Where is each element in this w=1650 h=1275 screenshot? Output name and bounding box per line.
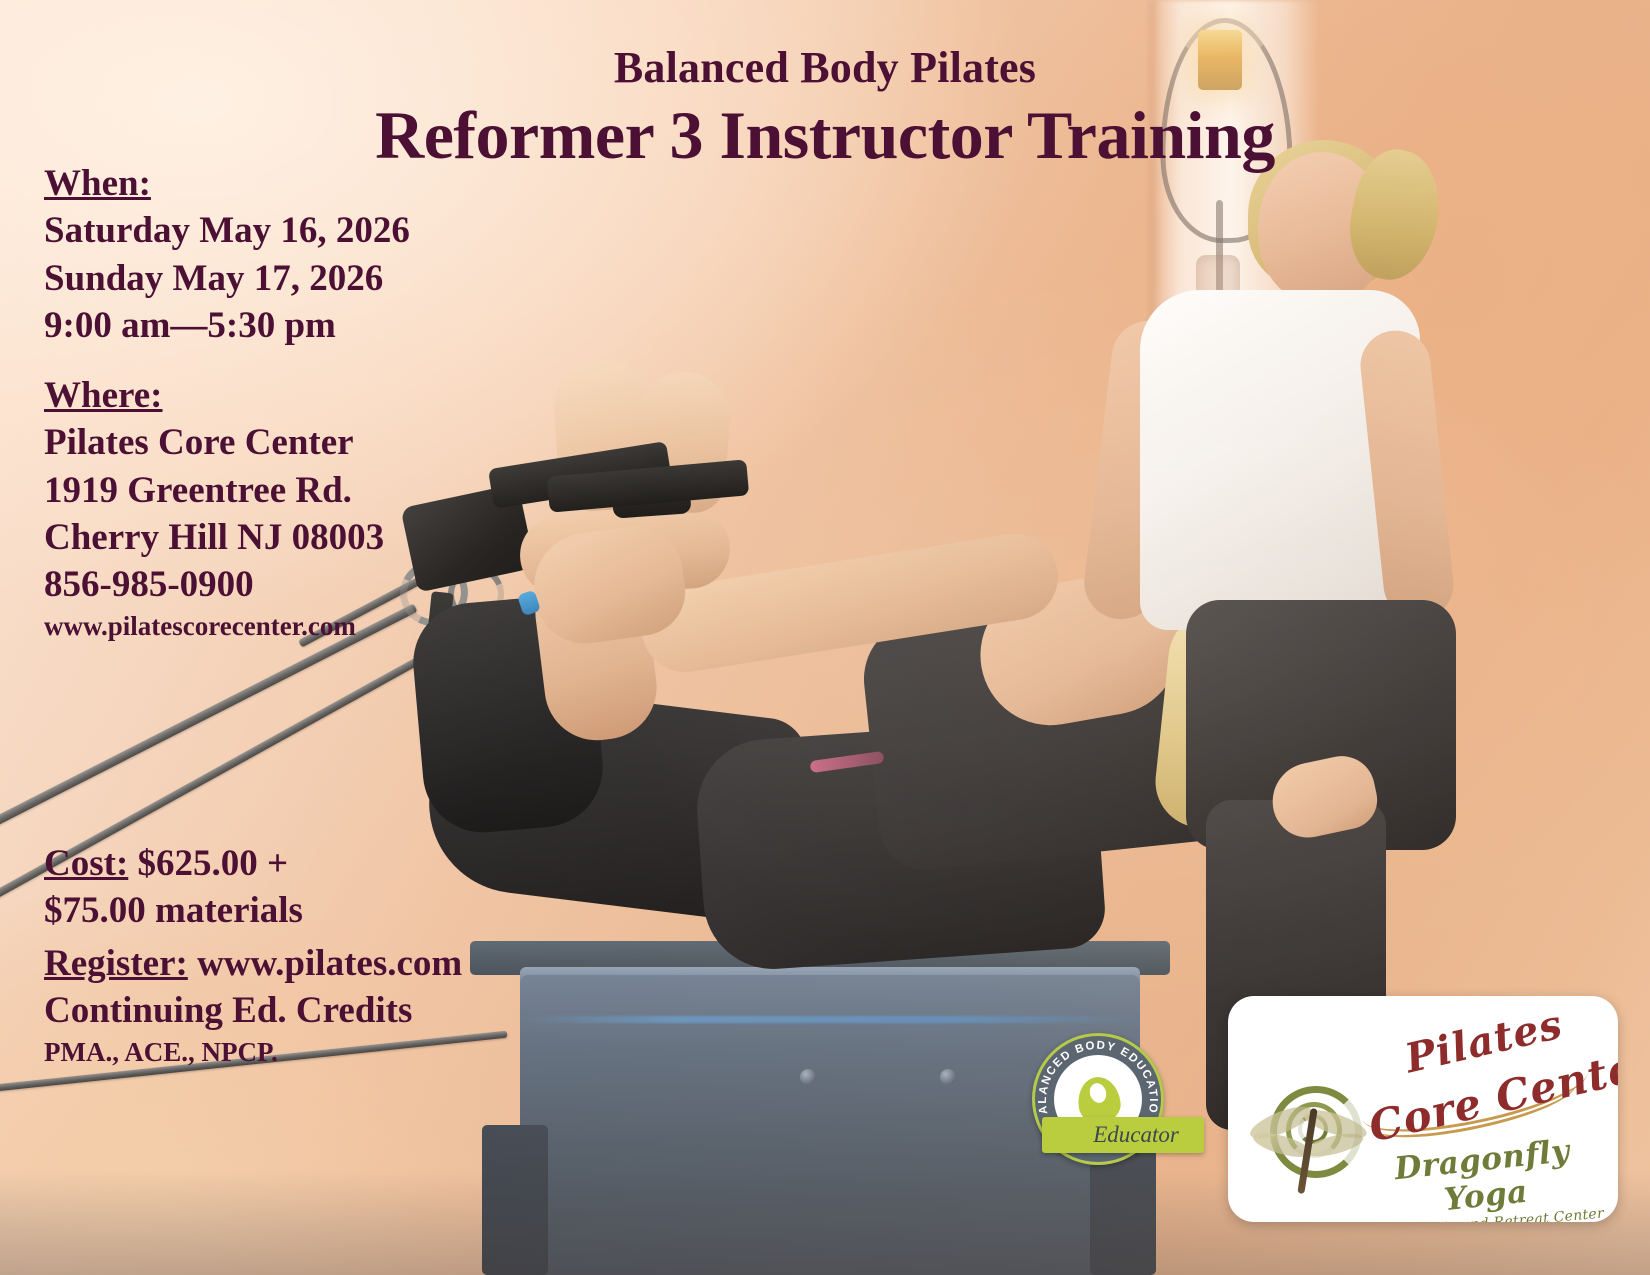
- badge-arc-text: BALANCED BODY EDUCATION: [1032, 1033, 1159, 1115]
- when-date-sunday: Sunday May 17, 2026: [44, 255, 564, 302]
- register-label: Register:: [44, 943, 188, 984]
- where-block: Where: Pilates Core Center 1919 Greentre…: [44, 372, 384, 644]
- cost-amount: $625.00 +: [138, 843, 289, 884]
- cost-line: Cost: $625.00 +: [44, 840, 604, 887]
- register-url[interactable]: www.pilates.com: [197, 943, 462, 984]
- cost-materials: $75.00 materials: [44, 887, 604, 934]
- venue-phone[interactable]: 856-985-0900: [44, 561, 384, 608]
- where-heading: Where:: [44, 372, 384, 419]
- when-date-saturday: Saturday May 16, 2026: [44, 207, 564, 254]
- when-block: When: Saturday May 16, 2026 Sunday May 1…: [44, 160, 564, 349]
- register-line: Register: www.pilates.com: [44, 940, 644, 987]
- when-hours: 9:00 am—5:30 pm: [44, 302, 564, 349]
- educator-ribbon-label: Educator: [1067, 1122, 1179, 1148]
- venue-city-state-zip: Cherry Hill NJ 08003: [44, 514, 384, 561]
- educator-ribbon: Educator: [1042, 1117, 1204, 1153]
- event-info-column: When: Saturday May 16, 2026 Sunday May 1…: [44, 160, 564, 349]
- title-block: Balanced Body Pilates Reformer 3 Instruc…: [0, 44, 1650, 172]
- pilates-training-flyer: Balanced Body Pilates Reformer 3 Instruc…: [0, 0, 1650, 1275]
- pilates-core-center-logo-card: Pilates Core Center Dragonfly Yoga Heali…: [1228, 996, 1618, 1222]
- venue-website-link[interactable]: www.pilatescorecenter.com: [44, 609, 384, 644]
- balanced-body-educator-badge: BALANCED BODY EDUCATION Educator: [1032, 1033, 1164, 1165]
- when-heading: When:: [44, 160, 564, 207]
- organization-name: Balanced Body Pilates: [0, 44, 1650, 92]
- register-block: Register: www.pilates.com Continuing Ed.…: [44, 940, 644, 1070]
- cost-label: Cost:: [44, 843, 128, 884]
- logo-tagline-wrap: Dragonfly Yoga Healing Arts and Retreat …: [1356, 1142, 1612, 1222]
- venue-street: 1919 Greentree Rd.: [44, 467, 384, 514]
- logo-script-wrap: Pilates Core Center: [1346, 1012, 1616, 1138]
- continuing-education-credits: Continuing Ed. Credits: [44, 987, 644, 1034]
- credit-organizations: PMA., ACE., NPCP.: [44, 1035, 644, 1070]
- cost-block: Cost: $625.00 + $75.00 materials: [44, 840, 604, 935]
- venue-name: Pilates Core Center: [44, 419, 384, 466]
